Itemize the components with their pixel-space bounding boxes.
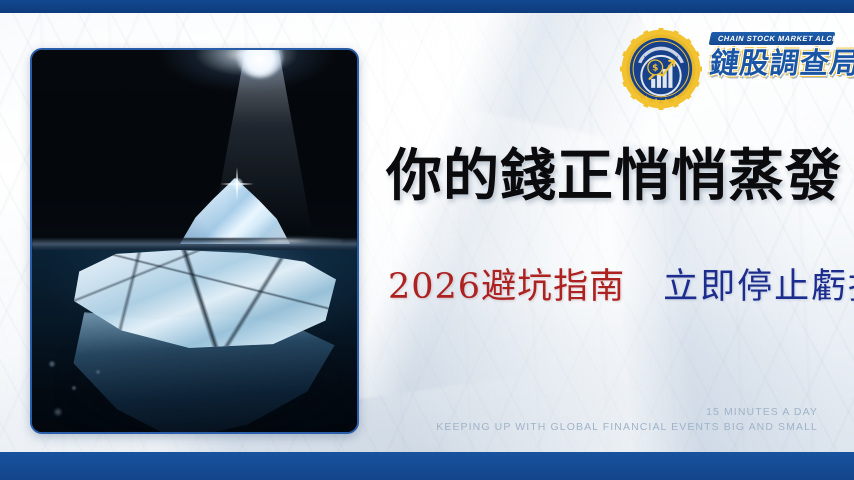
subtitle-right: 立即停止虧損 <box>663 258 854 309</box>
top-navy-band <box>0 0 854 13</box>
waterline-glint <box>222 236 342 246</box>
page-title: 你的錢正悄悄蒸發 <box>386 148 842 207</box>
tagline-line-1: 15 MINUTES A DAY <box>436 405 818 421</box>
brand-english-name: CHAIN STOCK MARKET ALCHEMY <box>709 32 836 45</box>
tagline-block: 15 MINUTES A DAY KEEPING UP WITH GLOBAL … <box>436 405 818 437</box>
brand-wordmark: CHAIN STOCK MARKET ALCHEMY 鏈股調查局 <box>710 32 834 78</box>
subtitle-left: 2026避坑指南 <box>388 258 625 309</box>
bottom-blue-band <box>0 452 854 480</box>
iceberg-photo-panel <box>30 48 359 434</box>
svg-text:$: $ <box>652 64 658 74</box>
brand-lockup: $ CHAIN STOCK MARKET ALCHEMY 鏈股調查局 <box>620 28 832 110</box>
iceberg-photo <box>32 50 357 432</box>
sparkle-core <box>231 178 243 190</box>
tagline-line-2: KEEPING UP WITH GLOBAL FINANCIAL EVENTS … <box>436 420 818 436</box>
bubbles <box>40 350 130 430</box>
poster-canvas: $ CHAIN STOCK MARKET ALCHEMY 鏈股調查局 你的錢正悄… <box>0 0 854 480</box>
subtitle-row: 2026避坑指南 立即停止虧損 <box>388 258 854 309</box>
brand-seal-icon: $ <box>620 28 702 110</box>
sparkle-icon <box>220 167 254 201</box>
brand-chinese-name: 鏈股調查局 <box>708 48 836 78</box>
